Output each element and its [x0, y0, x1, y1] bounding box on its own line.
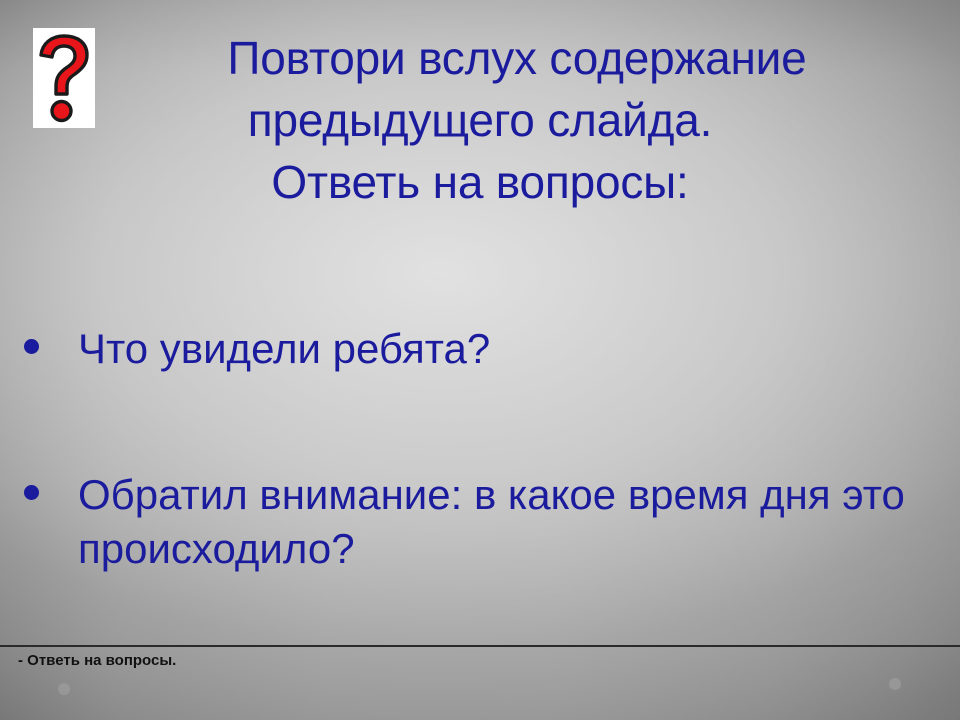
slide-canvas: Повтори вслух содержание предыдущего сла… [0, 0, 960, 720]
bullet-text: Обратил внимание: в какое время дня это … [78, 468, 940, 576]
decorative-dot-right [889, 678, 901, 690]
page-title: Повтори вслух содержание предыдущего сла… [0, 27, 960, 213]
list-item: Обратил внимание: в какое время дня это … [0, 468, 960, 576]
footer-note: - Ответь на вопросы. [18, 651, 176, 671]
decorative-dot-left [58, 683, 70, 695]
bullet-marker-icon [24, 339, 39, 354]
title-line-3: Ответь на вопросы: [0, 151, 960, 213]
bullet-list: Что увидели ребята? Обратил внимание: в … [0, 322, 960, 576]
bullet-marker-icon [24, 485, 39, 500]
title-line-2: предыдущего слайда. [0, 89, 960, 151]
footer-divider [0, 645, 960, 647]
bullet-text: Что увидели ребята? [78, 322, 940, 376]
list-item: Что увидели ребята? [0, 322, 960, 376]
title-line-1: Повтори вслух содержание [0, 27, 960, 89]
